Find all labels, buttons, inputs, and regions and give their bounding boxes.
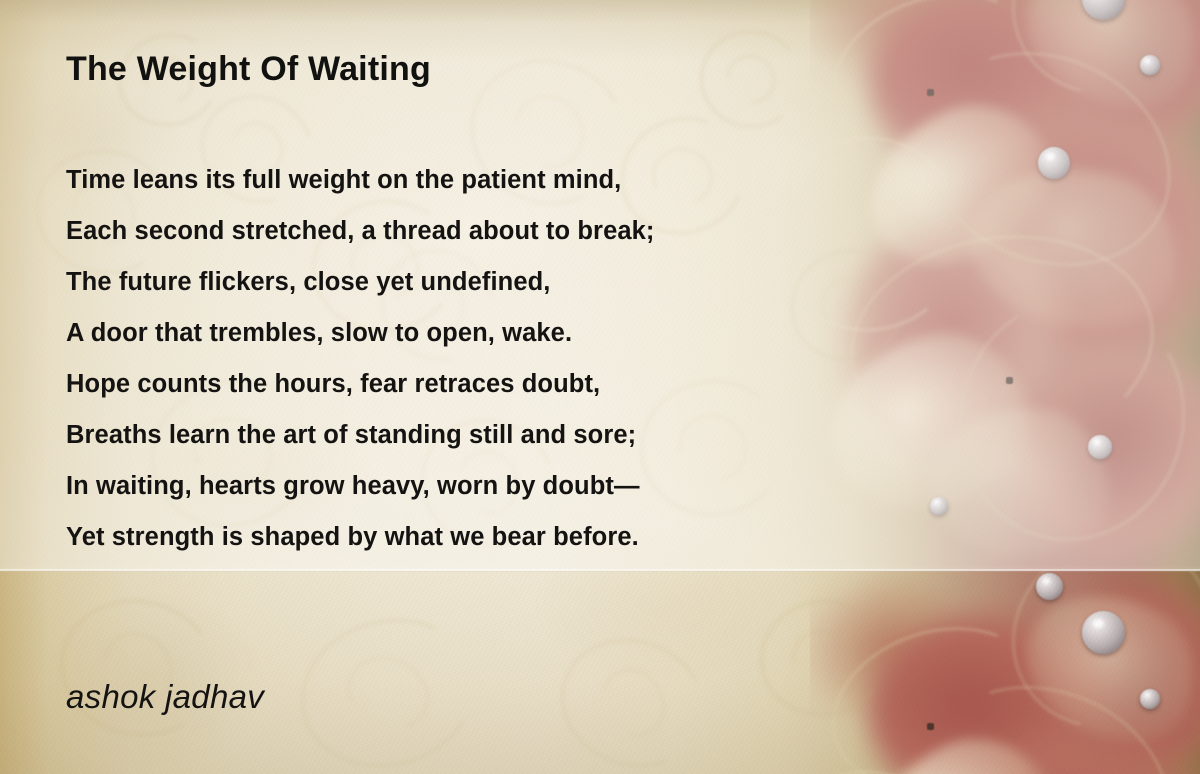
poem-title: The Weight Of Waiting (66, 50, 431, 89)
poem-image-card: The Weight Of Waiting Time leans its ful… (0, 0, 1200, 774)
poem-line: In waiting, hearts grow heavy, worn by d… (66, 461, 926, 512)
poem-content: The Weight Of Waiting Time leans its ful… (0, 0, 1200, 774)
poem-body: Time leans its full weight on the patien… (66, 155, 926, 563)
poem-line: A door that trembles, slow to open, wake… (66, 308, 926, 359)
poem-line: Hope counts the hours, fear retraces dou… (66, 359, 926, 410)
poem-line: Breaths learn the art of standing still … (66, 410, 926, 461)
poem-author-signature: ashok jadhav (66, 678, 264, 716)
poem-line: The future flickers, close yet undefined… (66, 257, 926, 308)
poem-line: Time leans its full weight on the patien… (66, 155, 926, 206)
poem-line: Yet strength is shaped by what we bear b… (66, 512, 926, 563)
poem-line: Each second stretched, a thread about to… (66, 206, 926, 257)
